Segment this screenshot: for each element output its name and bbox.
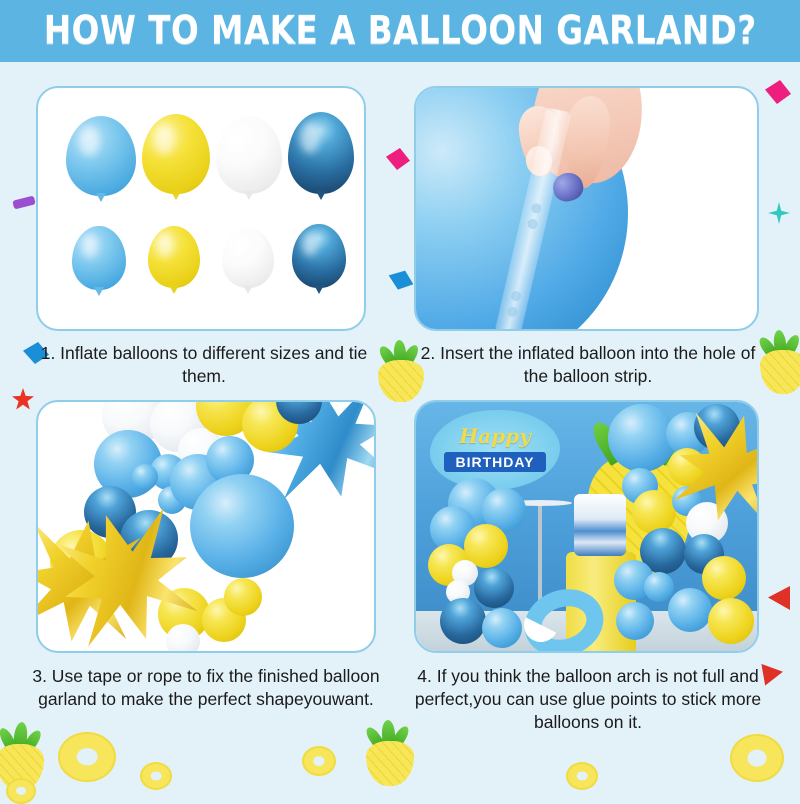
garland-balloon-blue-3 (132, 464, 158, 490)
balloon-yellow-large (142, 114, 210, 194)
arch-balloon-blue-12 (616, 602, 654, 640)
step-2-caption: 2. Insert the inflated balloon into the … (414, 342, 762, 388)
step-2-image-panel[interactable] (414, 86, 759, 331)
dessert-table-leg (538, 506, 542, 610)
pineapple-ring-icon-3 (302, 746, 336, 776)
step-4-image-panel[interactable]: Happy BIRTHDAY (414, 400, 759, 653)
garland-balloon-blue-large (190, 474, 294, 578)
garland-balloon-yellow-6 (224, 578, 262, 616)
pineapple-ring-icon-2 (140, 762, 172, 790)
red-star-confetti-icon (12, 388, 34, 410)
page-title: HOW TO MAKE A BALLOON GARLAND? (44, 8, 757, 54)
purple-ribbon-confetti-icon (12, 195, 36, 209)
teal-star-confetti-icon (768, 202, 790, 224)
sign-happy-text: Happy (430, 424, 560, 448)
pineapple-ring-icon-6 (6, 778, 36, 804)
arch-balloon-blue-11 (668, 588, 712, 632)
step-4-caption: 4. If you think the balloon arch is not … (404, 665, 772, 734)
pink-arrow-confetti-icon-2 (765, 80, 791, 104)
content-area: Happy BIRTHDAY (0, 62, 800, 800)
balloon-light-blue-small (72, 226, 126, 290)
sign-birthday-text: BIRTHDAY (444, 452, 546, 472)
pineapple-ring-icon-4 (566, 762, 598, 790)
arch-balloon-metal (474, 568, 514, 608)
balloon-white-large (216, 116, 282, 194)
balloon-white-small (222, 228, 274, 288)
balloon-metallic-blue-small (292, 224, 346, 288)
header-banner: HOW TO MAKE A BALLOON GARLAND? (0, 0, 800, 62)
balloon-yellow-small (148, 226, 200, 288)
garland-balloon-white-4 (166, 624, 200, 653)
arch-balloon-yellow-6 (708, 598, 754, 644)
red-triangle-confetti-icon (768, 586, 790, 610)
arch-balloon-metal-2 (440, 598, 486, 644)
pineapple-decoration-icon-2 (760, 330, 800, 394)
arch-balloon-yellow-4 (632, 490, 676, 534)
birthday-cake (574, 494, 626, 556)
pineapple-ring-icon (58, 732, 116, 782)
pineapple-ring-icon-5 (730, 734, 784, 782)
blue-arrow-confetti-icon-2 (386, 268, 416, 293)
balloon-metallic-blue-large (288, 112, 354, 194)
step-1-caption: 1. Inflate balloons to different sizes a… (36, 342, 372, 388)
arch-balloon-yellow-5 (702, 556, 746, 600)
pink-arrow-confetti-icon (386, 148, 410, 170)
step-1-image-panel[interactable] (36, 86, 366, 331)
arch-balloon-blue-4 (482, 608, 522, 648)
step-3-image-panel[interactable] (36, 400, 376, 653)
balloon-light-blue-large (66, 116, 136, 196)
arch-balloon-blue-10 (644, 572, 674, 602)
step-3-caption: 3. Use tape or rope to fix the finished … (26, 665, 386, 711)
